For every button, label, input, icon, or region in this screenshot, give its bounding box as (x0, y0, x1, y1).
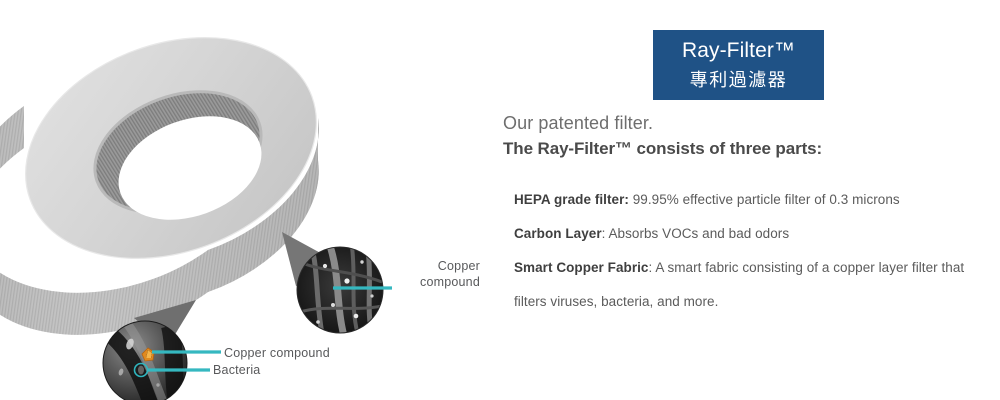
callout-copper-compound-lower: Copper compound (224, 345, 330, 361)
info-panel: Ray-Filter™ 專利過濾器 Our patented filter. T… (498, 0, 1000, 400)
callout-line-2: compound (420, 275, 480, 289)
part-term: Smart Copper Fabric (514, 260, 648, 275)
callout-line-1: Copper (438, 259, 480, 273)
list-item: Carbon Layer: Absorbs VOCs and bad odors (514, 217, 994, 251)
badge-title: Ray-Filter™ (653, 36, 824, 66)
part-term: Carbon Layer (514, 226, 602, 241)
filter-ring-svg (0, 0, 500, 400)
badge-subtitle-chinese: 專利過濾器 (653, 66, 824, 94)
fiber-microscopy-inset (297, 246, 383, 336)
surface-microscopy-inset (103, 321, 187, 400)
list-item: HEPA grade filter: 99.95% effective part… (514, 183, 994, 217)
part-description: 99.95% effective particle filter of 0.3 … (629, 192, 900, 207)
part-description: : Absorbs VOCs and bad odors (602, 226, 790, 241)
list-item: Smart Copper Fabric: A smart fabric cons… (514, 251, 994, 319)
headline: The Ray-Filter™ consists of three parts: (503, 139, 822, 159)
ray-filter-product-graphic: Copper compound Copper compound Bacteria… (0, 0, 1000, 400)
intro-line: Our patented filter. (503, 113, 653, 134)
ray-filter-badge: Ray-Filter™ 專利過濾器 (653, 30, 824, 100)
part-term: HEPA grade filter: (514, 192, 629, 207)
filter-illustration: Copper compound Copper compound Bacteria (0, 0, 500, 400)
callout-copper-compound-upper: Copper compound (396, 258, 480, 290)
callout-bacteria: Bacteria (213, 362, 260, 378)
filter-parts-list: HEPA grade filter: 99.95% effective part… (514, 183, 994, 319)
